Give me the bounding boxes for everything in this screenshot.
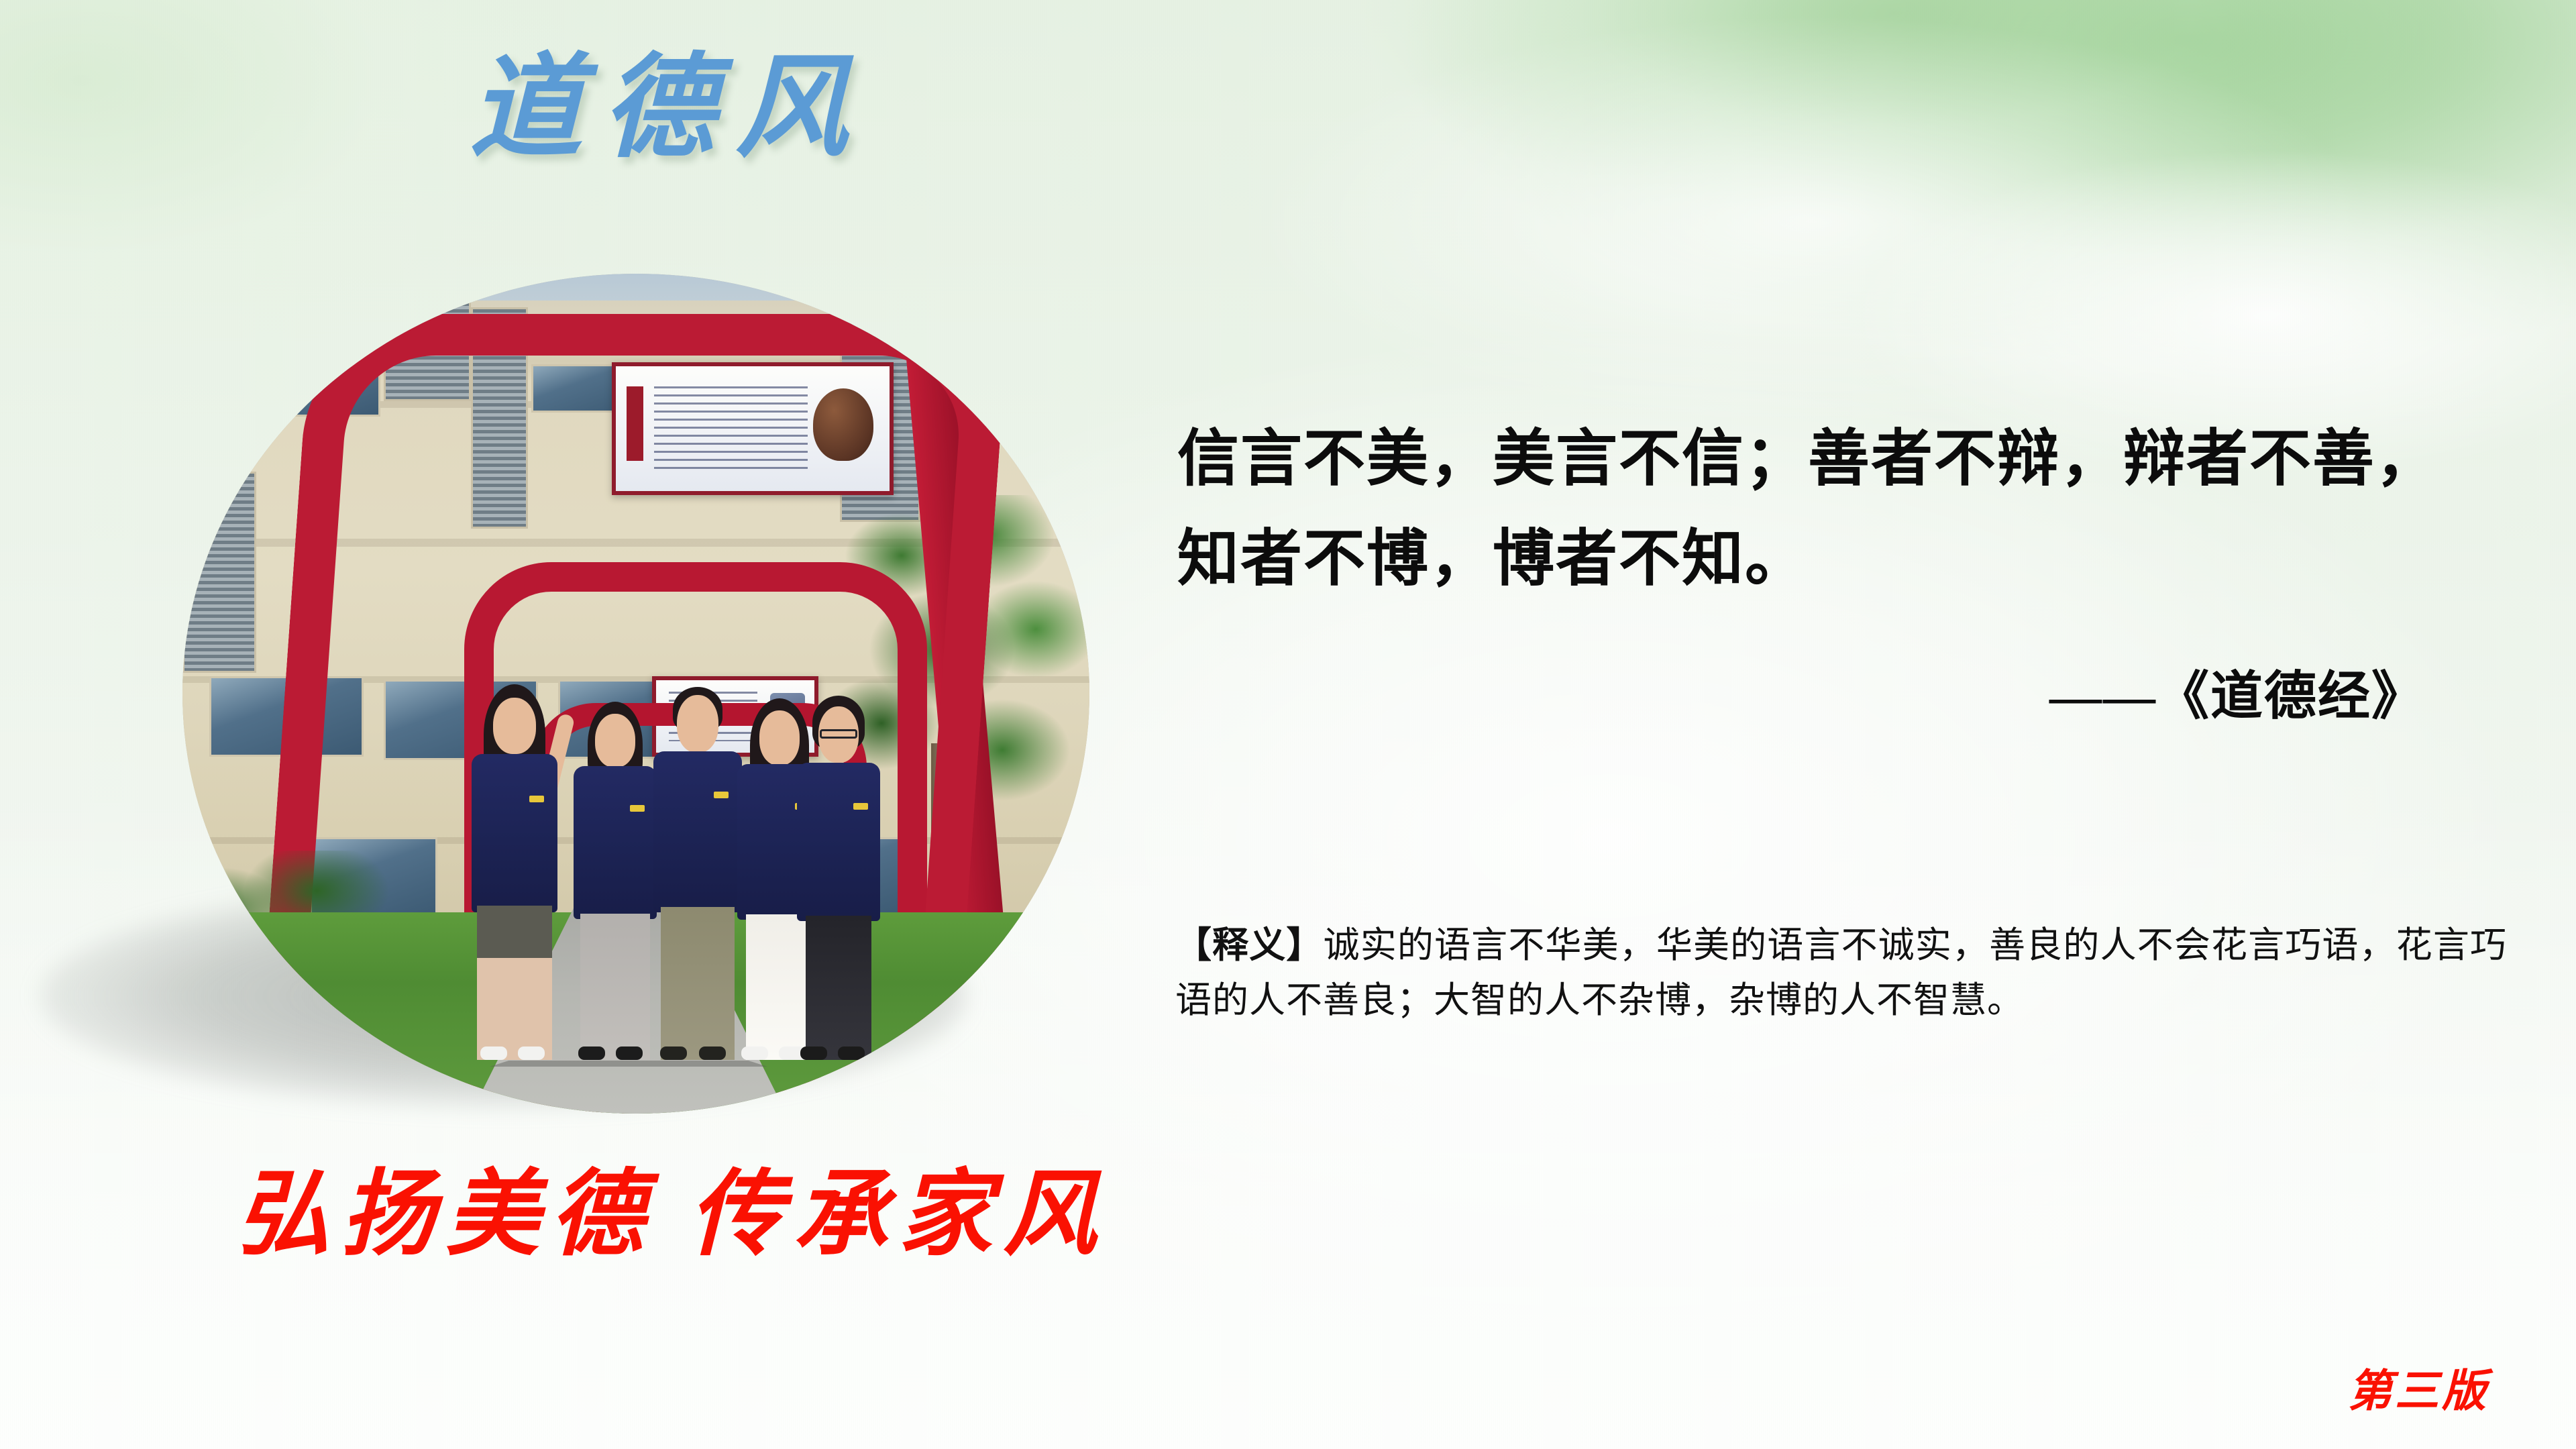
shoe bbox=[800, 1046, 827, 1060]
legs bbox=[477, 906, 552, 1060]
shoe bbox=[480, 1046, 507, 1060]
legs bbox=[661, 907, 735, 1060]
glasses-icon bbox=[820, 729, 857, 739]
facade-louver bbox=[182, 472, 256, 673]
quote-line-2: 知者不博，博者不知。 bbox=[1177, 509, 2506, 609]
legs bbox=[806, 916, 871, 1060]
circular-photo bbox=[182, 274, 1089, 1114]
quote-attribution: ——《道德经》 bbox=[1177, 654, 2425, 729]
page-title: 道德风 bbox=[470, 52, 868, 165]
person bbox=[464, 684, 565, 1060]
gloss-block: 【释义】诚实的语言不华美，华美的语言不诚实，善良的人不会花言巧语，花言巧语的人不… bbox=[1175, 918, 2507, 1028]
shoe bbox=[741, 1046, 768, 1060]
slogan: 弘扬美德 传承家风 bbox=[236, 1169, 1108, 1263]
head bbox=[493, 698, 536, 754]
head bbox=[595, 714, 635, 767]
uniform-top bbox=[797, 763, 880, 921]
shoe bbox=[616, 1046, 643, 1060]
uniform-badge bbox=[714, 792, 729, 798]
photo-scene bbox=[182, 274, 1089, 1114]
shoe bbox=[699, 1046, 726, 1060]
shoe bbox=[518, 1046, 545, 1060]
shoe bbox=[838, 1046, 865, 1060]
edition-marker: 第三版 bbox=[2348, 1355, 2489, 1419]
uniform-badge bbox=[529, 796, 544, 802]
quote-line-1: 信言不美，美言不信；善者不辩，辩者不善， bbox=[1177, 409, 2506, 509]
uniform-badge bbox=[630, 805, 645, 812]
head bbox=[677, 695, 718, 753]
shoe bbox=[660, 1046, 687, 1060]
legs bbox=[580, 914, 650, 1060]
uniform-top bbox=[472, 754, 557, 912]
gloss-tag: 【释义】 bbox=[1175, 925, 1324, 965]
shoe bbox=[578, 1046, 605, 1060]
uniform-top bbox=[574, 766, 657, 919]
gloss-text: 诚实的语言不华美，华美的语言不诚实，善良的人不会花言巧语，花言巧语的人不善良；大… bbox=[1175, 925, 2507, 1020]
walkway-seam bbox=[471, 1061, 786, 1067]
person bbox=[790, 694, 887, 1060]
uniform-top bbox=[653, 751, 742, 912]
uniform-badge bbox=[853, 803, 868, 810]
quote-block: 信言不美，美言不信；善者不辩，辩者不善， 知者不博，博者不知。 bbox=[1177, 409, 2506, 609]
newspaper-page: 道德风 bbox=[0, 0, 2576, 1449]
